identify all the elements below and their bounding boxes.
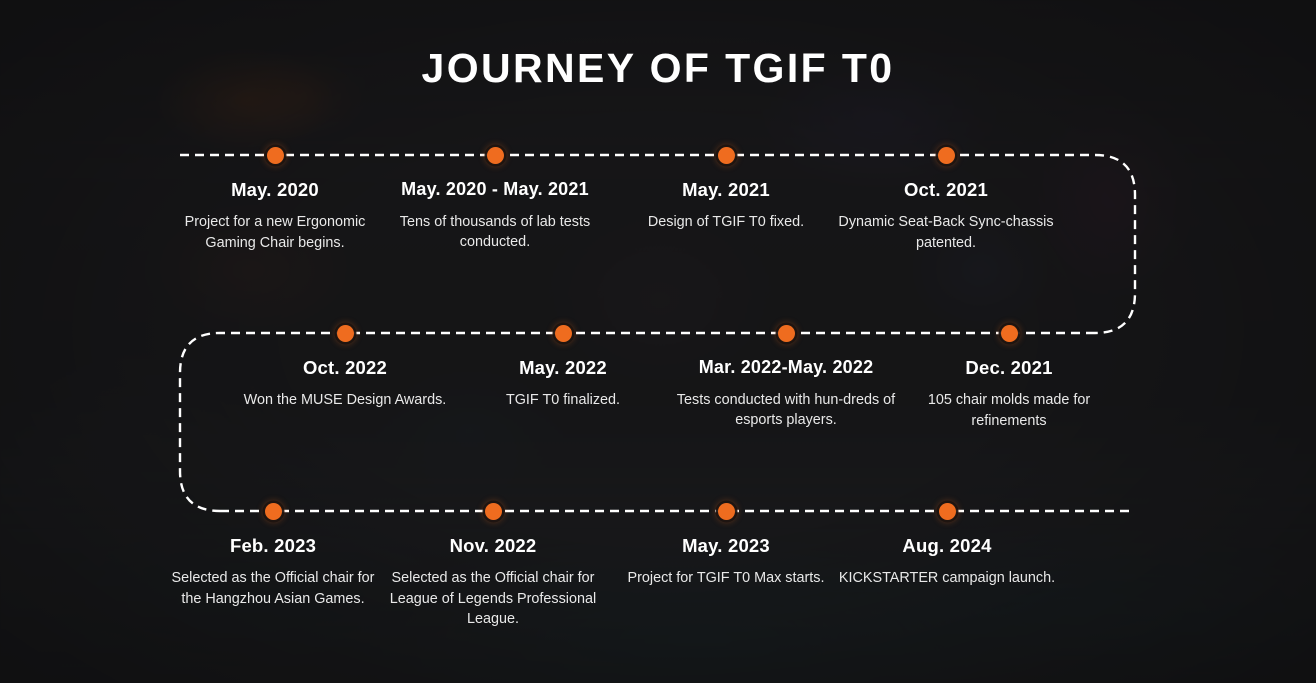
timeline-infographic: JOURNEY OF TGIF T0 May. 2020Project for …: [0, 0, 1316, 683]
milestone-item: Oct. 2022Won the MUSE Design Awards.: [235, 357, 455, 411]
milestone-date: May. 2022: [453, 357, 673, 379]
milestone-date: Mar. 2022-May. 2022: [676, 357, 896, 379]
milestone-dot[interactable]: [718, 147, 735, 164]
milestone-dot[interactable]: [337, 325, 354, 342]
milestone-description: Selected as the Official chair for Leagu…: [383, 568, 603, 630]
milestone-dot[interactable]: [267, 147, 284, 164]
milestone-description: Project for a new Ergonomic Gaming Chair…: [165, 212, 385, 253]
milestone-item: Mar. 2022-May. 2022Tests conducted with …: [676, 357, 896, 431]
milestone-description: Won the MUSE Design Awards.: [235, 390, 455, 411]
milestone-description: KICKSTARTER campaign launch.: [837, 568, 1057, 589]
milestone-item: May. 2020Project for a new Ergonomic Gam…: [165, 179, 385, 253]
milestone-description: Selected as the Official chair for the H…: [163, 568, 383, 609]
milestone-description: 105 chair molds made for refinements: [899, 390, 1119, 431]
milestone-item: May. 2023Project for TGIF T0 Max starts.: [616, 535, 836, 589]
milestone-date: May. 2021: [616, 179, 836, 201]
milestone-date: May. 2020: [165, 179, 385, 201]
milestone-dot[interactable]: [718, 503, 735, 520]
milestone-description: Tests conducted with hun-dreds of esport…: [676, 390, 896, 431]
milestone-item: Oct. 2021Dynamic Seat-Back Sync-chassis …: [836, 179, 1056, 253]
page-title: JOURNEY OF TGIF T0: [0, 48, 1316, 89]
milestone-item: May. 2020 - May. 2021Tens of thousands o…: [385, 179, 605, 253]
milestone-dot[interactable]: [938, 147, 955, 164]
milestone-dot[interactable]: [265, 503, 282, 520]
milestone-item: Dec. 2021105 chair molds made for refine…: [899, 357, 1119, 431]
milestone-description: Tens of thousands of lab tests conducted…: [385, 212, 605, 253]
milestone-dot[interactable]: [487, 147, 504, 164]
milestone-dot[interactable]: [1001, 325, 1018, 342]
milestone-dot[interactable]: [939, 503, 956, 520]
milestone-item: Nov. 2022Selected as the Official chair …: [383, 535, 603, 630]
milestone-item: May. 2021Design of TGIF T0 fixed.: [616, 179, 836, 233]
milestone-date: Dec. 2021: [899, 357, 1119, 379]
milestone-item: Feb. 2023Selected as the Official chair …: [163, 535, 383, 609]
milestone-date: May. 2020 - May. 2021: [385, 179, 605, 201]
milestone-date: Oct. 2022: [235, 357, 455, 379]
milestone-item: May. 2022TGIF T0 finalized.: [453, 357, 673, 411]
milestone-description: Design of TGIF T0 fixed.: [616, 212, 836, 233]
milestone-description: Project for TGIF T0 Max starts.: [616, 568, 836, 589]
milestone-date: Feb. 2023: [163, 535, 383, 557]
milestone-description: TGIF T0 finalized.: [453, 390, 673, 411]
milestone-description: Dynamic Seat-Back Sync-chassis patented.: [836, 212, 1056, 253]
milestone-dot[interactable]: [778, 325, 795, 342]
milestone-dot[interactable]: [555, 325, 572, 342]
milestone-dot[interactable]: [485, 503, 502, 520]
milestone-date: May. 2023: [616, 535, 836, 557]
milestone-date: Aug. 2024: [837, 535, 1057, 557]
milestone-item: Aug. 2024KICKSTARTER campaign launch.: [837, 535, 1057, 589]
milestone-date: Nov. 2022: [383, 535, 603, 557]
milestone-date: Oct. 2021: [836, 179, 1056, 201]
